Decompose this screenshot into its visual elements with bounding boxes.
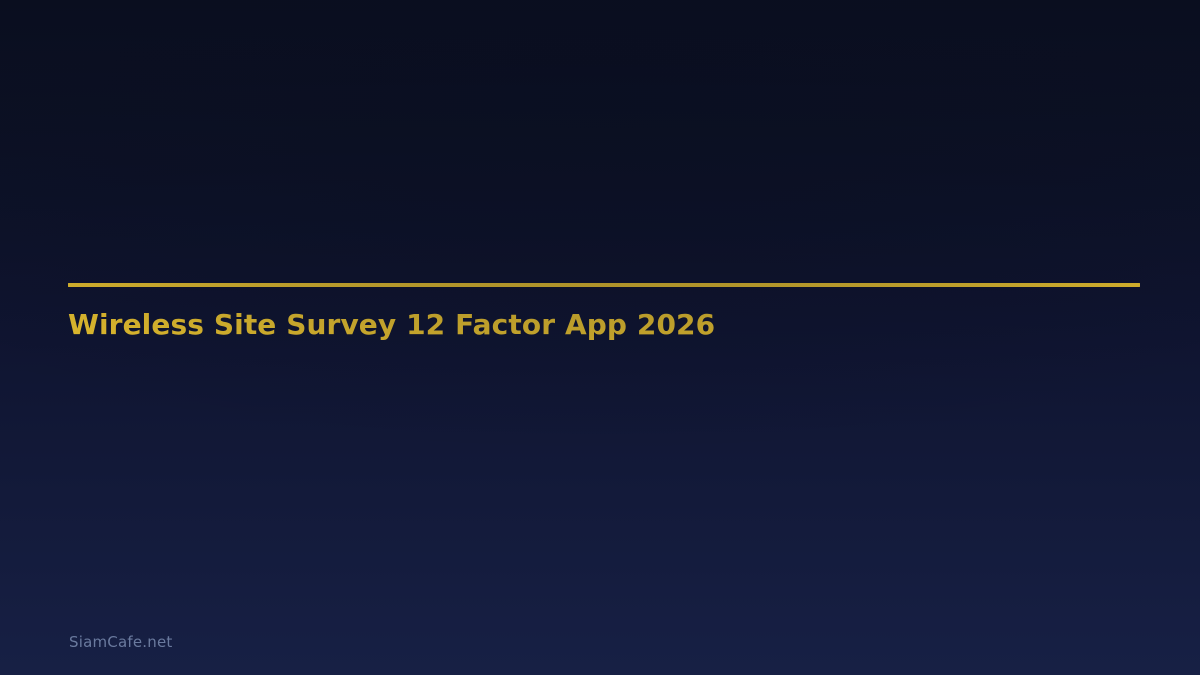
footer: SiamCafe.net (69, 632, 172, 651)
page-title: Wireless Site Survey 12 Factor App 2026 (68, 287, 1140, 341)
footer-brand-label: SiamCafe.net (69, 633, 172, 651)
title-slide: Wireless Site Survey 12 Factor App 2026 … (0, 0, 1200, 675)
title-block: Wireless Site Survey 12 Factor App 2026 (68, 283, 1140, 341)
